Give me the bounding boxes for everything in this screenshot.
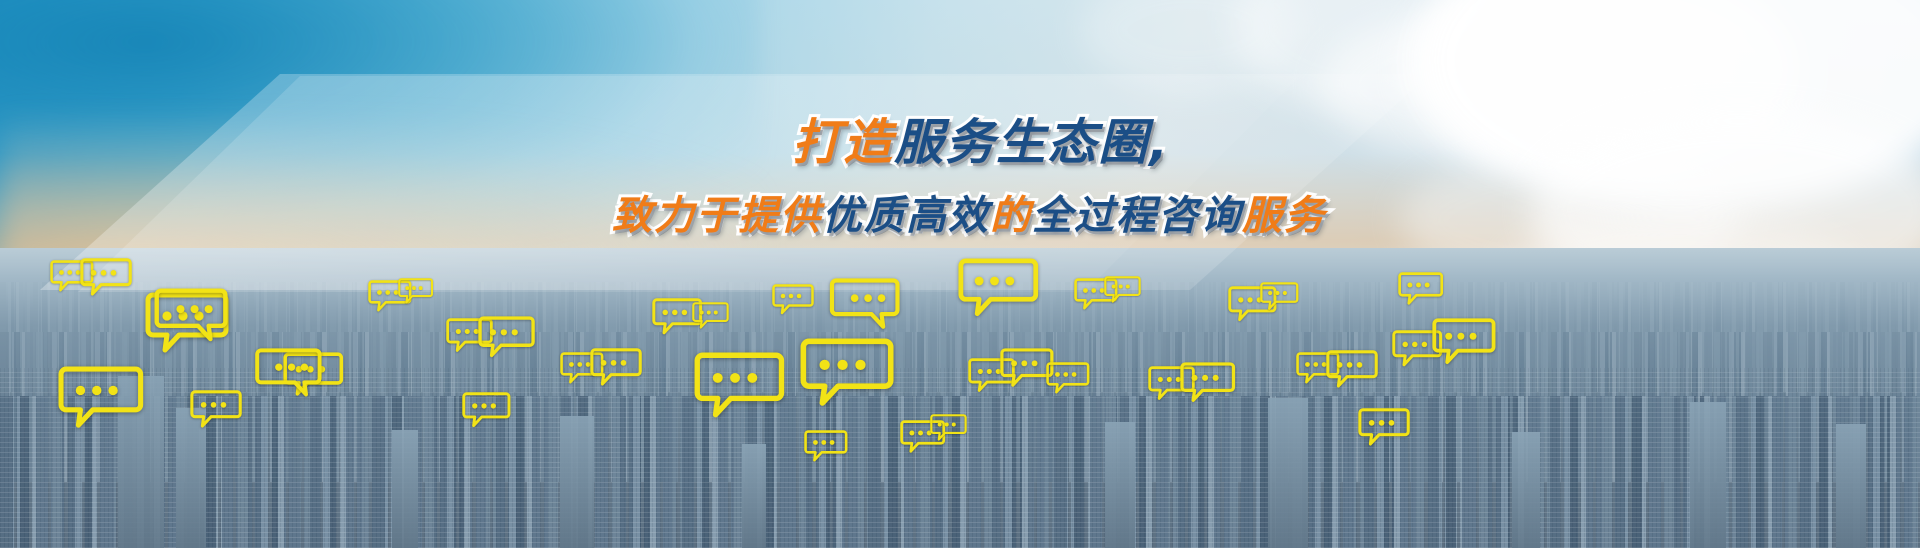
window-texture bbox=[0, 368, 1920, 548]
landmark-tower bbox=[1690, 402, 1726, 548]
landmark-tower bbox=[1512, 432, 1540, 548]
landmark-tower bbox=[392, 430, 418, 548]
cityscape-photo bbox=[0, 248, 1920, 548]
landmark-tower bbox=[1836, 424, 1866, 548]
landmark-tower bbox=[742, 444, 766, 548]
landmark-tower bbox=[560, 416, 594, 548]
landmark-tower bbox=[118, 376, 164, 548]
landmark-tower bbox=[176, 408, 206, 548]
landmark-tower bbox=[1105, 422, 1135, 548]
landmark-tower bbox=[1268, 398, 1308, 548]
hero-banner: 打造服务生态圈, 致力于提供优质高效的全过程咨询服务 bbox=[0, 0, 1920, 548]
